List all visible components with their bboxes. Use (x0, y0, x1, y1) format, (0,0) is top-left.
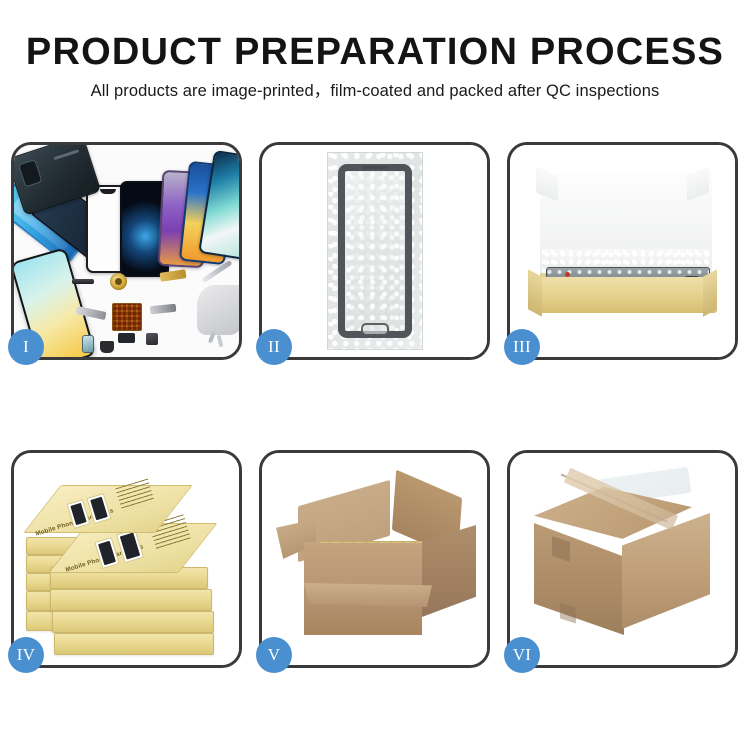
bubble-film-sheet (327, 152, 423, 350)
process-step-1[interactable]: I (11, 142, 242, 360)
step-badge-1: I (8, 329, 44, 365)
page-subtitle: All products are image-printed，film-coat… (0, 80, 750, 102)
page-title: PRODUCT PREPARATION PROCESS (0, 30, 750, 74)
bubble-texture (345, 171, 405, 331)
step-4-image: Mobile Phone Spare Parts Mobile Phone Sp… (14, 453, 239, 665)
process-step-grid: I II (11, 142, 739, 668)
kraft-box-body (535, 277, 717, 313)
step-5-image (262, 453, 487, 665)
hand-holding-part (197, 285, 239, 335)
product-preparation-process-page: PRODUCT PREPARATION PROCESS All products… (0, 0, 750, 750)
kraft-box-flap-right (703, 269, 717, 316)
chip-part (118, 333, 135, 343)
step-3-image (510, 145, 735, 357)
flex-cable-grey (150, 304, 177, 315)
stacked-box-edge-9 (54, 633, 214, 655)
step-badge-3: III (504, 329, 540, 365)
step-badge-6: VI (504, 637, 540, 673)
process-step-5[interactable]: V (259, 450, 490, 668)
sealed-carton-front (534, 523, 624, 635)
stacked-box-edge-8 (52, 611, 214, 633)
process-step-4[interactable]: Mobile Phone Spare Parts Mobile Phone Sp… (11, 450, 242, 668)
step-1-image (14, 145, 239, 357)
step-2-image (262, 145, 487, 357)
button-part (100, 341, 114, 353)
stacked-box-edge-7 (50, 589, 212, 611)
step-badge-2: II (256, 329, 292, 365)
copper-coil-part (110, 273, 127, 290)
kraft-box-flap-left (528, 269, 542, 316)
copper-mesh-part (112, 303, 142, 331)
header: PRODUCT PREPARATION PROCESS All products… (0, 30, 750, 102)
front-camera-part (82, 335, 94, 353)
box-stack: Mobile Phone Spare Parts Mobile Phone Sp… (20, 467, 239, 663)
wrapped-phone-screen (338, 164, 412, 338)
screw-part-2 (217, 335, 224, 348)
speaker-bar-part (72, 279, 94, 284)
process-step-2[interactable]: II (259, 142, 490, 360)
vibration-motor-part (146, 333, 158, 345)
step-6-image (510, 453, 735, 665)
step-badge-4: IV (8, 637, 44, 673)
connector-strip (54, 149, 80, 160)
process-step-3[interactable]: III (507, 142, 738, 360)
camera-module-icon (18, 159, 43, 187)
process-step-6[interactable]: VI (507, 450, 738, 668)
step-badge-5: V (256, 637, 292, 673)
carton-flap-front (304, 583, 432, 607)
